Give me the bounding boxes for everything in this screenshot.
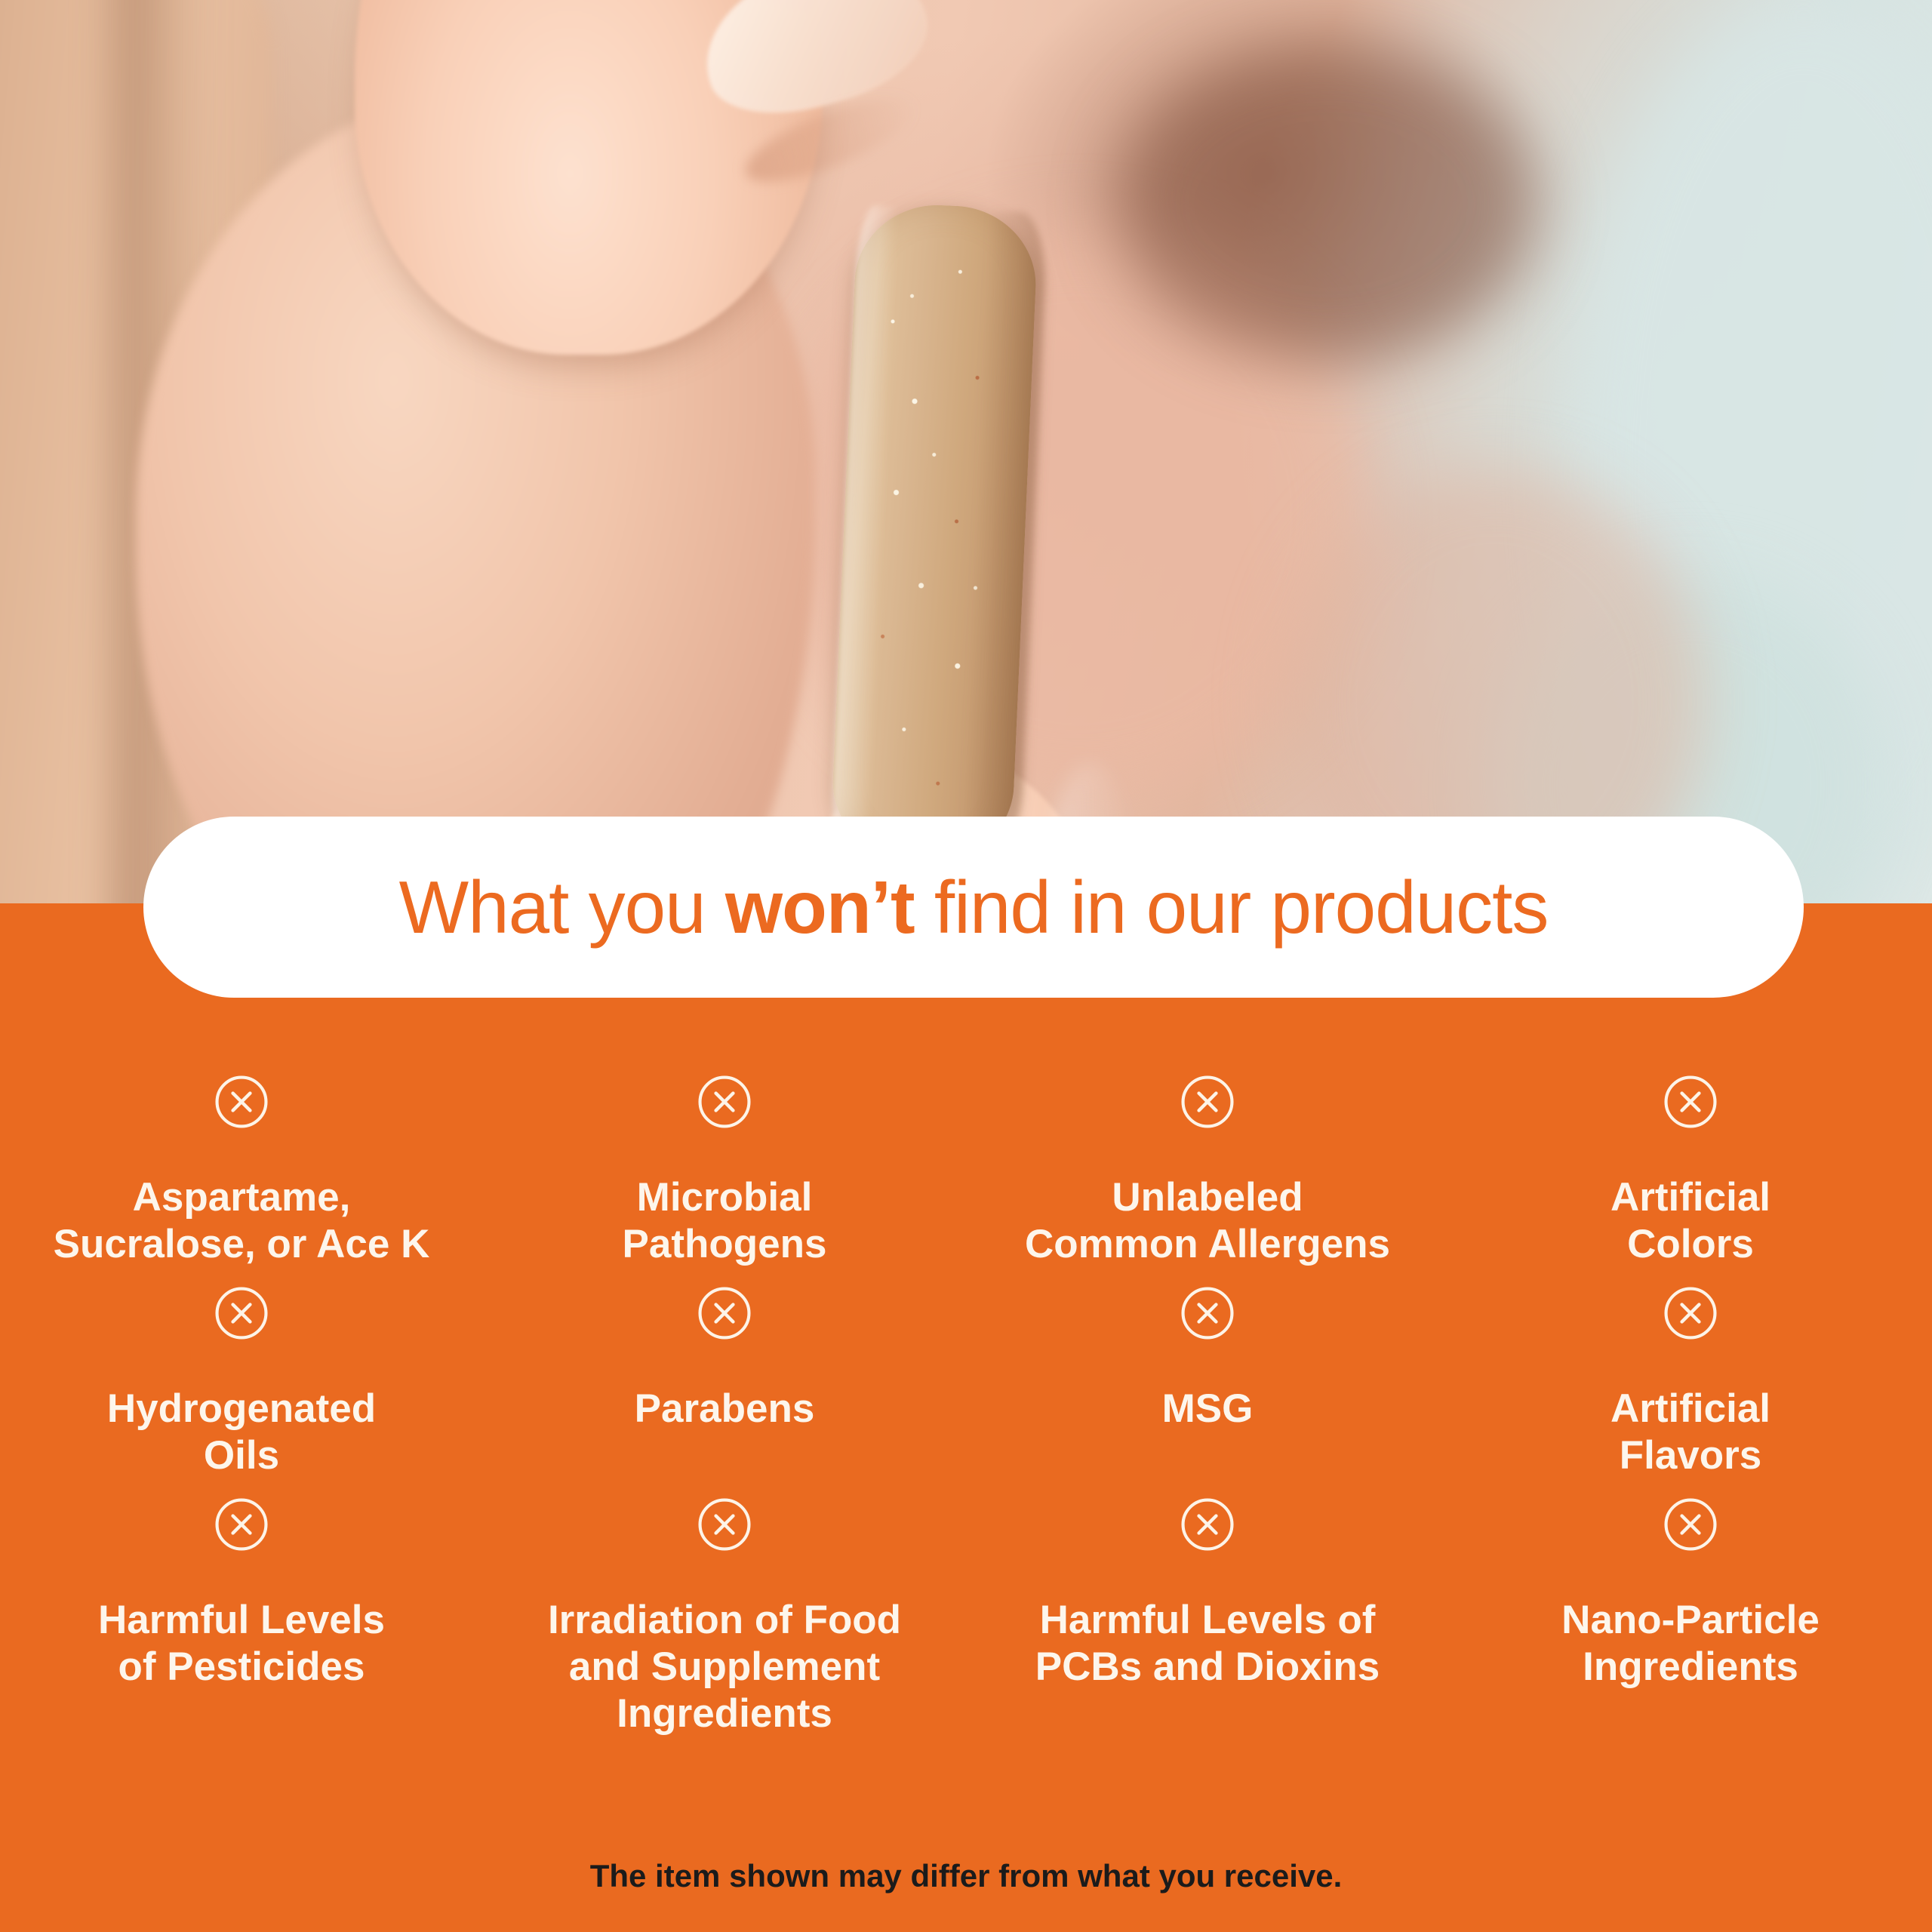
list-item-label: MSG xyxy=(1162,1386,1254,1432)
list-item: MSG xyxy=(966,1268,1449,1479)
list-item-label: Nano-Particle Ingredients xyxy=(1561,1597,1820,1690)
list-item: Artificial Flavors xyxy=(1449,1268,1932,1479)
list-item-label: Parabens xyxy=(635,1386,815,1432)
list-item: Artificial Colors xyxy=(1449,1057,1932,1268)
list-item-label: Harmful Levels of Pesticides xyxy=(98,1597,385,1690)
circle-x-icon xyxy=(696,1073,753,1131)
list-item-label: Harmful Levels of PCBs and Dioxins xyxy=(1035,1597,1380,1690)
exclusions-grid: Aspartame, Sucralose, or Ace K Microbial… xyxy=(0,1057,1932,1737)
list-item-label: Unlabeled Common Allergens xyxy=(1025,1174,1390,1268)
list-item: Harmful Levels of Pesticides xyxy=(0,1479,483,1737)
title-emphasis: won’t xyxy=(725,866,915,949)
circle-x-icon xyxy=(696,1284,753,1342)
list-item: Parabens xyxy=(483,1268,966,1479)
circle-x-icon xyxy=(1179,1284,1236,1342)
list-item-label: Aspartame, Sucralose, or Ace K xyxy=(54,1174,430,1268)
circle-x-icon xyxy=(1662,1073,1719,1131)
list-item-label: Artificial Flavors xyxy=(1611,1386,1770,1479)
list-item-label: Microbial Pathogens xyxy=(623,1174,827,1268)
circle-x-icon xyxy=(1662,1496,1719,1553)
list-item: Microbial Pathogens xyxy=(483,1057,966,1268)
list-item: Nano-Particle Ingredients xyxy=(1449,1479,1932,1737)
list-item: Unlabeled Common Allergens xyxy=(966,1057,1449,1268)
list-item: Harmful Levels of PCBs and Dioxins xyxy=(966,1479,1449,1737)
circle-x-icon xyxy=(696,1496,753,1553)
disclaimer-text: The item shown may differ from what you … xyxy=(590,1858,1343,1894)
list-item: Aspartame, Sucralose, or Ace K xyxy=(0,1057,483,1268)
hero-photo xyxy=(0,0,1932,906)
circle-x-icon xyxy=(1179,1496,1236,1553)
circle-x-icon xyxy=(213,1073,270,1131)
title-pill: What you won’t find in our products xyxy=(143,817,1804,998)
infographic-canvas: What you won’t find in our products Aspa… xyxy=(0,0,1932,1932)
circle-x-icon xyxy=(213,1284,270,1342)
circle-x-icon xyxy=(1662,1284,1719,1342)
list-item-label: Hydrogenated Oils xyxy=(107,1386,376,1479)
title-part-1: What you xyxy=(399,866,725,949)
list-item: Hydrogenated Oils xyxy=(0,1268,483,1479)
list-item-label: Artificial Colors xyxy=(1611,1174,1770,1268)
footer: The item shown may differ from what you … xyxy=(0,1858,1932,1894)
list-item: Irradiation of Food and Supplement Ingre… xyxy=(483,1479,966,1737)
circle-x-icon xyxy=(1179,1073,1236,1131)
page-title: What you won’t find in our products xyxy=(399,870,1549,944)
list-item-label: Irradiation of Food and Supplement Ingre… xyxy=(548,1597,901,1737)
title-part-2: find in our products xyxy=(915,866,1549,949)
background-blur-dark xyxy=(1117,45,1540,362)
circle-x-icon xyxy=(213,1496,270,1553)
